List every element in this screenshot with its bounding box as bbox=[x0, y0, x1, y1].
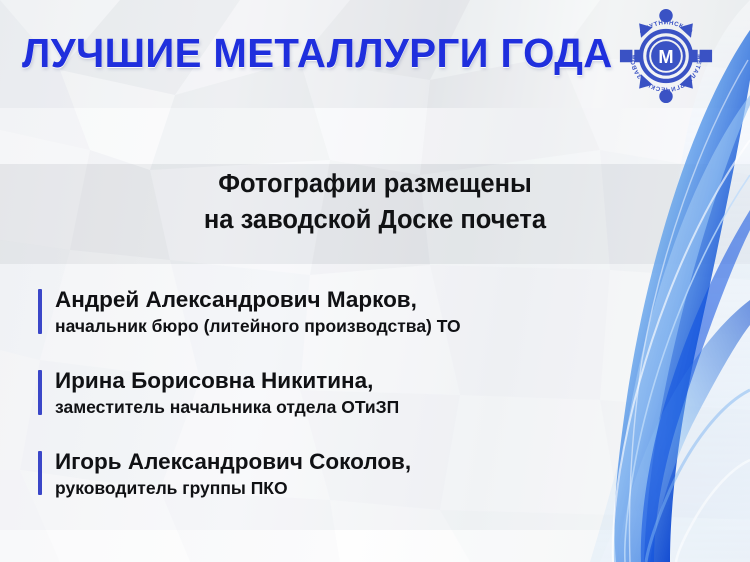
slide-header: ЛУЧШИЕ МЕТАЛЛУРГИ ГОДА bbox=[0, 0, 750, 108]
honoree-name: Ирина Борисовна Никитина, bbox=[55, 367, 638, 394]
list-item: Андрей Александрович Марков, начальник б… bbox=[38, 286, 638, 338]
accent-bar bbox=[38, 289, 42, 334]
honoree-role: начальник бюро (литейного производства) … bbox=[55, 315, 638, 338]
accent-bar bbox=[38, 370, 42, 415]
subtitle-line-2: на заводской Доске почета bbox=[0, 202, 750, 238]
company-logo: М ОМУТНИНСКИЙ МЕТАЛЛУРГИЧЕСКИЙ ЗАВОД bbox=[618, 8, 714, 104]
page-title: ЛУЧШИЕ МЕТАЛЛУРГИ ГОДА bbox=[22, 33, 613, 74]
slide-canvas: ЛУЧШИЕ МЕТАЛЛУРГИ ГОДА bbox=[0, 0, 750, 562]
logo-center-letter: М bbox=[658, 46, 673, 67]
honoree-list: Андрей Александрович Марков, начальник б… bbox=[38, 286, 638, 499]
honoree-name: Андрей Александрович Марков, bbox=[55, 286, 638, 313]
subtitle-line-1: Фотографии размещены bbox=[0, 166, 750, 202]
accent-bar bbox=[38, 451, 42, 496]
list-item: Ирина Борисовна Никитина, заместитель на… bbox=[38, 367, 638, 419]
list-item: Игорь Александрович Соколов, руководител… bbox=[38, 448, 638, 500]
honoree-role: руководитель группы ПКО bbox=[55, 477, 638, 500]
honoree-role: заместитель начальника отдела ОТиЗП bbox=[55, 396, 638, 419]
honoree-name: Игорь Александрович Соколов, bbox=[55, 448, 638, 475]
background-band-upper-light bbox=[0, 108, 750, 164]
logo-ring-text-top: ОМУТНИНСКИЙ bbox=[639, 19, 695, 36]
background-band-bottom bbox=[0, 530, 750, 562]
subtitle: Фотографии размещены на заводской Доске … bbox=[0, 166, 750, 238]
